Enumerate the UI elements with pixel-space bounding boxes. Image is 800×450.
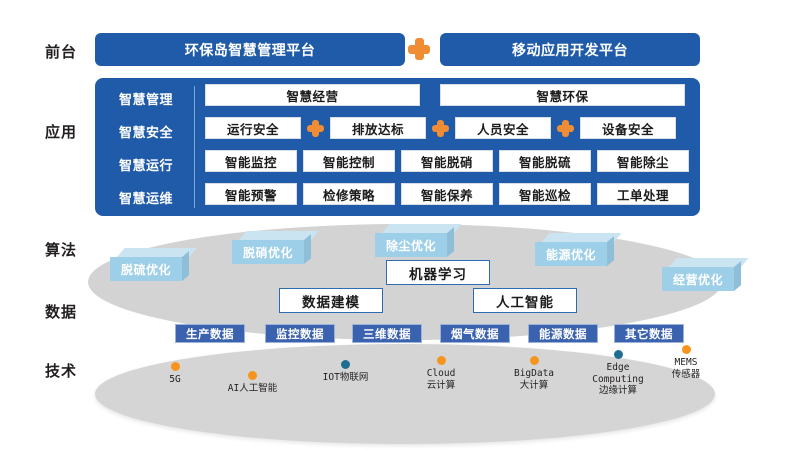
plus-icon (307, 120, 324, 137)
tech-dot-icon (248, 371, 257, 380)
tech-label: Edge (578, 362, 658, 374)
data-chip-flue-gas[interactable]: 烟气数据 (440, 324, 510, 343)
cube-side-face (734, 261, 741, 291)
app-chip-smart-desulfurization[interactable]: 智能脱硫 (499, 150, 591, 172)
tech-item-iot[interactable]: IOT物联网 (303, 360, 388, 384)
tech-item-mems[interactable]: MEMS 传感器 (655, 345, 717, 380)
app-chip-work-order[interactable]: 工单处理 (597, 183, 689, 205)
tech-label: Cloud (410, 368, 472, 380)
app-chip-smart-environment[interactable]: 智慧环保 (440, 84, 685, 106)
algorithm-cube-desulfurization[interactable]: 脱硫优化 (110, 248, 182, 272)
tech-dot-icon (682, 345, 691, 354)
app-category-safety: 智慧安全 (103, 122, 189, 141)
algorithm-cube-energy[interactable]: 能源优化 (535, 233, 607, 257)
tech-label: BigData (500, 368, 568, 380)
midbox-artificial-intelligence[interactable]: 人工智能 (473, 288, 577, 313)
algorithm-cube-denitrification[interactable]: 脱硝优化 (232, 231, 304, 255)
plus-icon (432, 120, 449, 137)
frontend-bar-mobile-platform[interactable]: 移动应用开发平台 (440, 33, 700, 66)
app-chip-smart-upkeep[interactable]: 智能保养 (401, 183, 493, 205)
app-category-management: 智慧管理 (103, 89, 189, 108)
rail-label-algorithm: 算法 (45, 239, 77, 260)
app-category-operation: 智慧运行 (103, 155, 189, 174)
tech-label-secondary: 大计算 (500, 380, 568, 392)
architecture-diagram: 前台 应用 算法 数据 技术 环保岛智慧管理平台 移动应用开发平台 智慧管理 智… (0, 0, 800, 450)
algorithm-cube-label: 能源优化 (535, 242, 607, 266)
tech-dot-icon (614, 350, 623, 359)
app-chip-smart-monitoring[interactable]: 智能监控 (205, 150, 297, 172)
tech-label-secondary: 云计算 (410, 380, 472, 392)
tech-item-bigdata[interactable]: BigData 大计算 (500, 356, 568, 391)
tech-dot-icon (437, 356, 446, 365)
algorithm-cube-business[interactable]: 经营优化 (662, 258, 734, 282)
tech-dot-icon (530, 356, 539, 365)
tech-label: MEMS (655, 357, 717, 369)
app-chip-smart-alarm[interactable]: 智能预警 (205, 183, 297, 205)
tech-dot-icon (171, 362, 180, 371)
frontend-bar-management-platform[interactable]: 环保岛智慧管理平台 (95, 33, 405, 66)
data-chip-monitoring[interactable]: 监控数据 (265, 324, 335, 343)
plus-icon (408, 38, 430, 60)
app-chip-operation-safety[interactable]: 运行安全 (205, 117, 301, 139)
midbox-machine-learning[interactable]: 机器学习 (386, 260, 490, 285)
tech-label-secondary: 传感器 (655, 369, 717, 381)
algorithm-cube-label: 脱硫优化 (110, 257, 182, 281)
data-chip-three-dimensional[interactable]: 三维数据 (352, 324, 422, 343)
tech-label: IOT物联网 (303, 372, 388, 384)
tech-dot-icon (341, 360, 350, 369)
rail-label-application: 应用 (45, 121, 77, 142)
data-chip-production[interactable]: 生产数据 (175, 324, 245, 343)
app-chip-emission-compliance[interactable]: 排放达标 (330, 117, 426, 139)
algorithm-cube-label: 脱硝优化 (232, 240, 304, 264)
data-chip-energy[interactable]: 能源数据 (528, 324, 598, 343)
app-category-maintenance: 智慧运维 (103, 188, 189, 207)
midbox-data-modeling[interactable]: 数据建模 (279, 288, 383, 313)
app-chip-smart-operation[interactable]: 智慧经营 (205, 84, 420, 106)
tech-item-edge-computing[interactable]: Edge Computing 边缘计算 (578, 350, 658, 397)
app-chip-smart-control[interactable]: 智能控制 (303, 150, 395, 172)
app-chip-smart-inspection[interactable]: 智能巡检 (499, 183, 591, 205)
tech-label-tertiary: 边缘计算 (578, 385, 658, 397)
tech-label: AI人工智能 (210, 383, 295, 395)
app-chip-repair-strategy[interactable]: 检修策略 (303, 183, 395, 205)
data-chip-other[interactable]: 其它数据 (614, 324, 684, 343)
app-chip-personnel-safety[interactable]: 人员安全 (455, 117, 551, 139)
algorithm-cube-label: 经营优化 (662, 267, 734, 291)
rail-label-data: 数据 (45, 301, 77, 322)
application-panel: 智慧管理 智慧经营 智慧环保 智慧安全 运行安全 排放达标 人员安全 设备安全 … (95, 78, 700, 216)
tech-label: 5G (145, 374, 205, 386)
tech-label-secondary: Computing (578, 374, 658, 386)
tech-item-5g[interactable]: 5G (145, 362, 205, 386)
tech-item-ai[interactable]: AI人工智能 (210, 371, 295, 395)
plus-icon (557, 120, 574, 137)
app-chip-smart-dedusting[interactable]: 智能除尘 (597, 150, 689, 172)
rail-label-technology: 技术 (45, 360, 77, 381)
tech-item-cloud[interactable]: Cloud 云计算 (410, 356, 472, 391)
algorithm-cube-label: 除尘优化 (375, 233, 447, 257)
algorithm-cube-dedusting[interactable]: 除尘优化 (375, 224, 447, 248)
app-chip-smart-denitrification[interactable]: 智能脱硝 (401, 150, 493, 172)
rail-label-frontend: 前台 (45, 41, 77, 62)
app-chip-equipment-safety[interactable]: 设备安全 (580, 117, 676, 139)
category-divider (194, 86, 195, 208)
